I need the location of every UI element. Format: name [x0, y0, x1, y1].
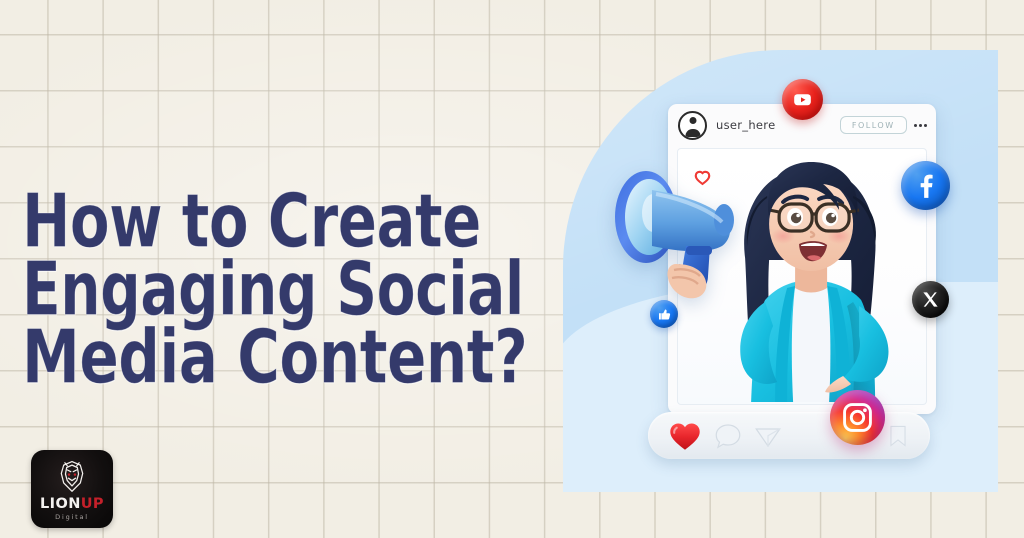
comment-button[interactable]	[711, 419, 745, 453]
more-options-icon[interactable]	[914, 124, 927, 127]
megaphone-icon	[612, 160, 754, 308]
instagram-badge[interactable]	[830, 390, 885, 445]
inner-shirt	[792, 286, 831, 402]
share-button[interactable]	[751, 419, 785, 453]
dot	[924, 124, 927, 127]
logo-wordmark: LIONUP	[40, 497, 104, 511]
headline-line-3: Media Content?	[22, 324, 573, 392]
logo-word-accent: UP	[81, 496, 104, 512]
youtube-badge[interactable]	[782, 79, 823, 120]
thumbs-up-badge[interactable]	[650, 300, 678, 328]
headline-line-2: Engaging Social	[22, 256, 559, 324]
facebook-badge[interactable]	[901, 161, 950, 210]
brand-logo[interactable]: LIONUP Digital	[31, 450, 113, 528]
x-badge[interactable]	[912, 281, 949, 318]
banner-canvas: How to Create Engaging Social Media Cont…	[0, 0, 1024, 538]
lion-head-icon	[53, 458, 91, 496]
avatar-head-shape	[689, 117, 696, 124]
logo-word-primary: LION	[40, 496, 81, 512]
avatar-body-shape	[685, 129, 700, 137]
youtube-icon	[792, 89, 813, 110]
page-title: How to Create Engaging Social Media Cont…	[22, 196, 562, 384]
save-button[interactable]	[883, 419, 913, 453]
x-twitter-icon	[921, 290, 940, 309]
dot	[919, 124, 922, 127]
thumbs-up-icon	[657, 307, 672, 322]
headline-line-1: How to Create	[22, 188, 570, 256]
heart-icon	[667, 418, 703, 454]
logo-tagline: Digital	[55, 513, 89, 521]
post-action-bar	[648, 412, 930, 459]
follow-button[interactable]: FOLLOW	[840, 116, 907, 134]
paper-plane-icon	[753, 421, 783, 451]
user-avatar-icon[interactable]	[678, 111, 707, 140]
post-username[interactable]: user_here	[716, 118, 775, 132]
dot	[914, 124, 917, 127]
like-button[interactable]	[665, 416, 705, 456]
bookmark-icon	[885, 421, 911, 451]
facebook-icon	[912, 172, 939, 199]
megaphone-grip-collar	[686, 246, 712, 255]
instagram-icon	[841, 401, 874, 434]
comment-bubble-icon	[713, 421, 743, 451]
